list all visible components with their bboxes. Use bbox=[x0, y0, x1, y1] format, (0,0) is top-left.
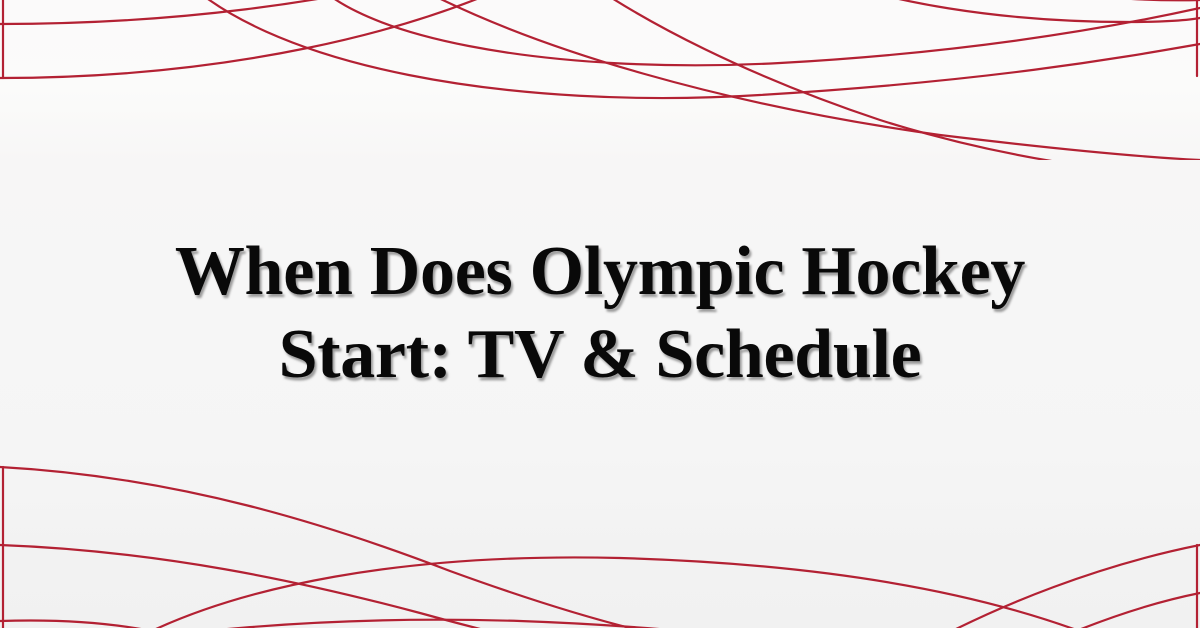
hero-card: When Does Olympic Hockey Start: TV & Sch… bbox=[0, 0, 1200, 628]
headline-container: When Does Olympic Hockey Start: TV & Sch… bbox=[0, 0, 1200, 628]
page-title: When Does Olympic Hockey Start: TV & Sch… bbox=[175, 231, 1025, 396]
headline-line-2: Start: TV & Schedule bbox=[279, 316, 922, 393]
headline-line-1: When Does Olympic Hockey bbox=[175, 233, 1025, 310]
